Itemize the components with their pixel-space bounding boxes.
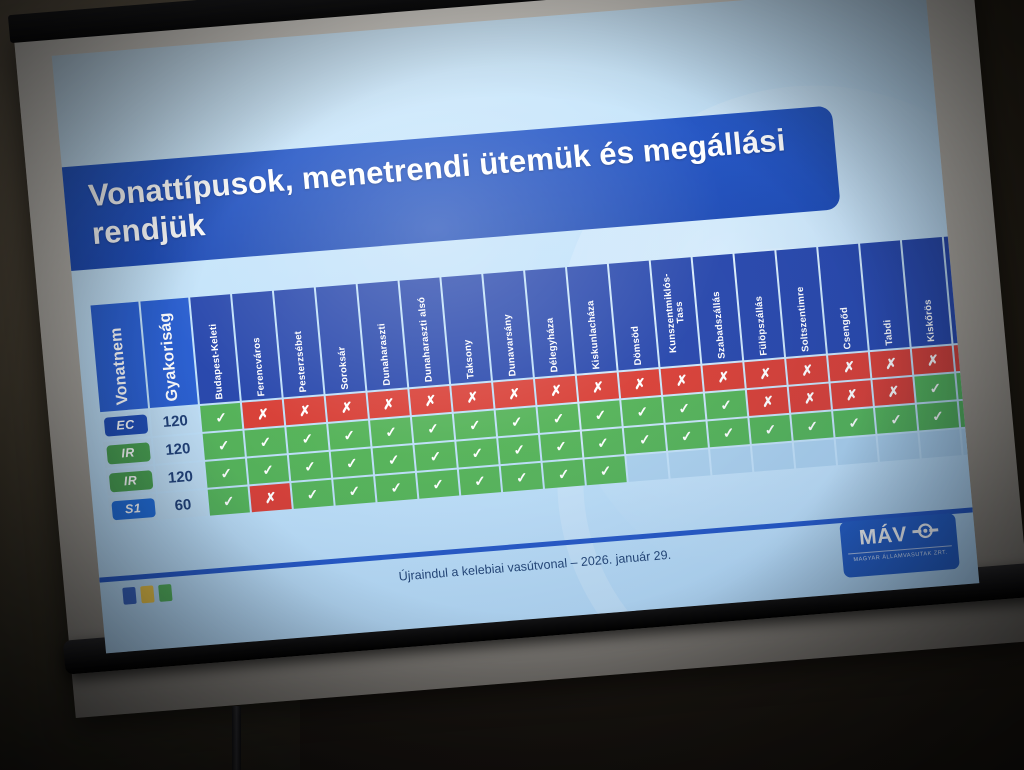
photo-scene: Vonattípusok, menetrendi ütemük és megál… [0,0,1024,770]
ambient-shadow [0,0,1024,770]
